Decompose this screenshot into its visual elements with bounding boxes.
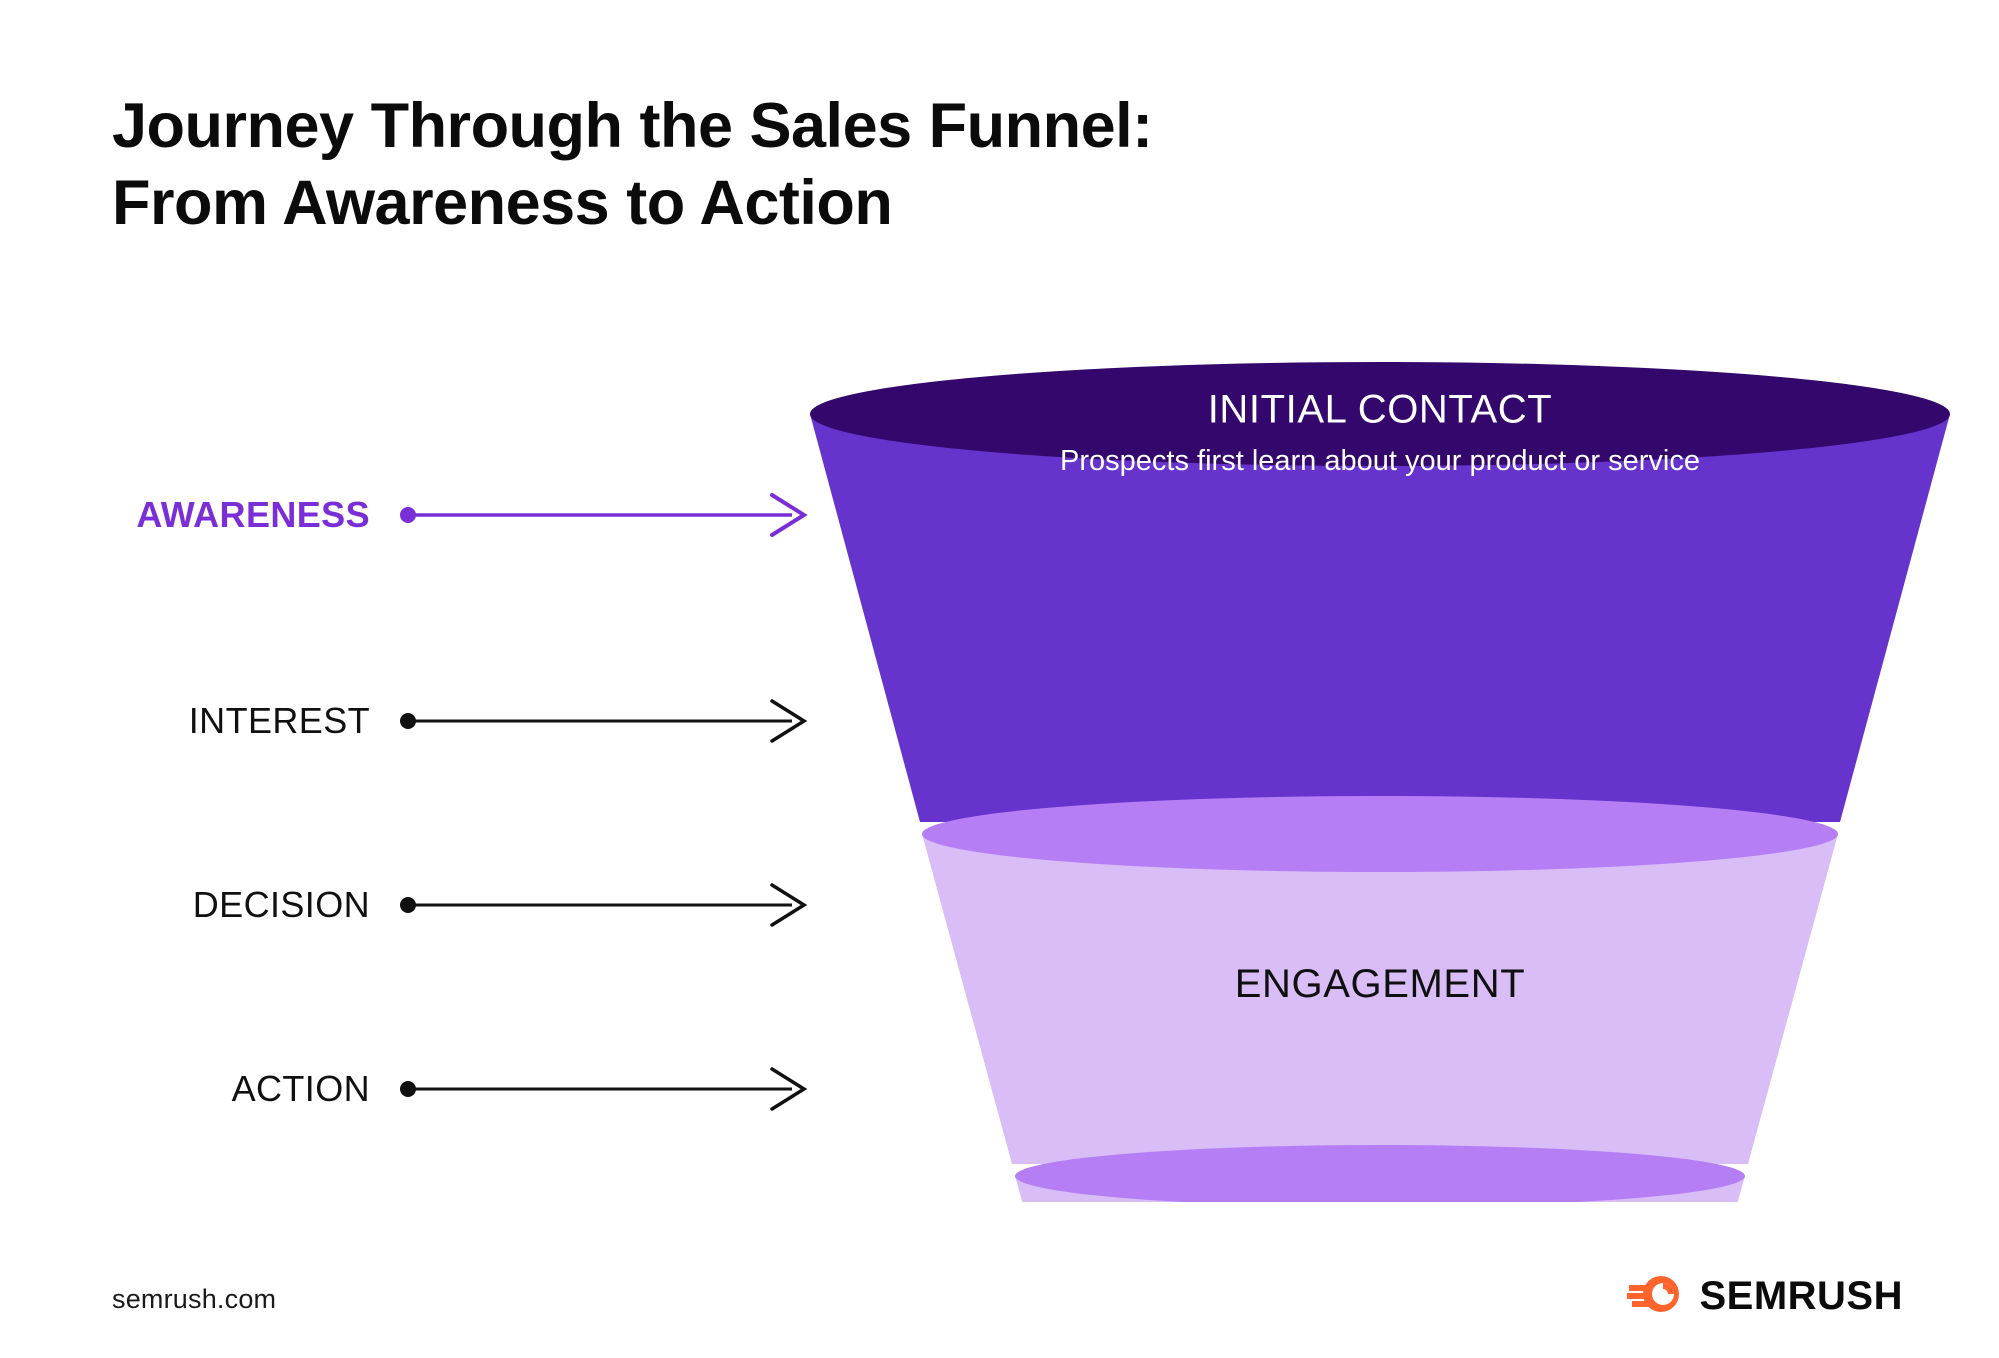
stage-row-action: ACTION (400, 1059, 810, 1119)
stage-label-interest: INTEREST (189, 703, 370, 739)
stage-row-interest: INTEREST (400, 691, 810, 751)
stage-label-decision: DECISION (193, 887, 370, 923)
sales-funnel-graphic: INITIAL CONTACT Prospects first learn ab… (800, 352, 1960, 1202)
stage-row-decision: DECISION (400, 875, 810, 935)
page-title: Journey Through the Sales Funnel: From A… (112, 88, 1512, 242)
connector-arrow-decision (400, 885, 810, 925)
semrush-comet-icon (1627, 1272, 1683, 1321)
connector-arrow-action (400, 1069, 810, 1109)
semrush-logo: SEMRUSH (1627, 1272, 1903, 1321)
funnel-segment-2-cap (922, 796, 1838, 872)
infographic-canvas: Journey Through the Sales Funnel: From A… (0, 0, 1999, 1358)
semrush-wordmark: SEMRUSH (1699, 1274, 1903, 1319)
connector-arrow-awareness (400, 495, 810, 535)
site-url: semrush.com (112, 1284, 276, 1315)
stage-label-action: ACTION (232, 1071, 370, 1107)
funnel-segment-initial-contact: INITIAL CONTACT Prospects first learn ab… (810, 362, 1950, 822)
funnel-segment-1-subtitle: Prospects first learn about your product… (1060, 445, 1700, 477)
connector-arrow-interest (400, 701, 810, 741)
stage-row-awareness: AWARENESS (400, 485, 810, 545)
stage-label-awareness: AWARENESS (136, 497, 370, 533)
funnel-segment-1-title: INITIAL CONTACT (1208, 388, 1553, 432)
funnel-segment-engagement: ENGAGEMENT (922, 796, 1838, 1164)
funnel-segment-2-title: ENGAGEMENT (1235, 962, 1525, 1006)
